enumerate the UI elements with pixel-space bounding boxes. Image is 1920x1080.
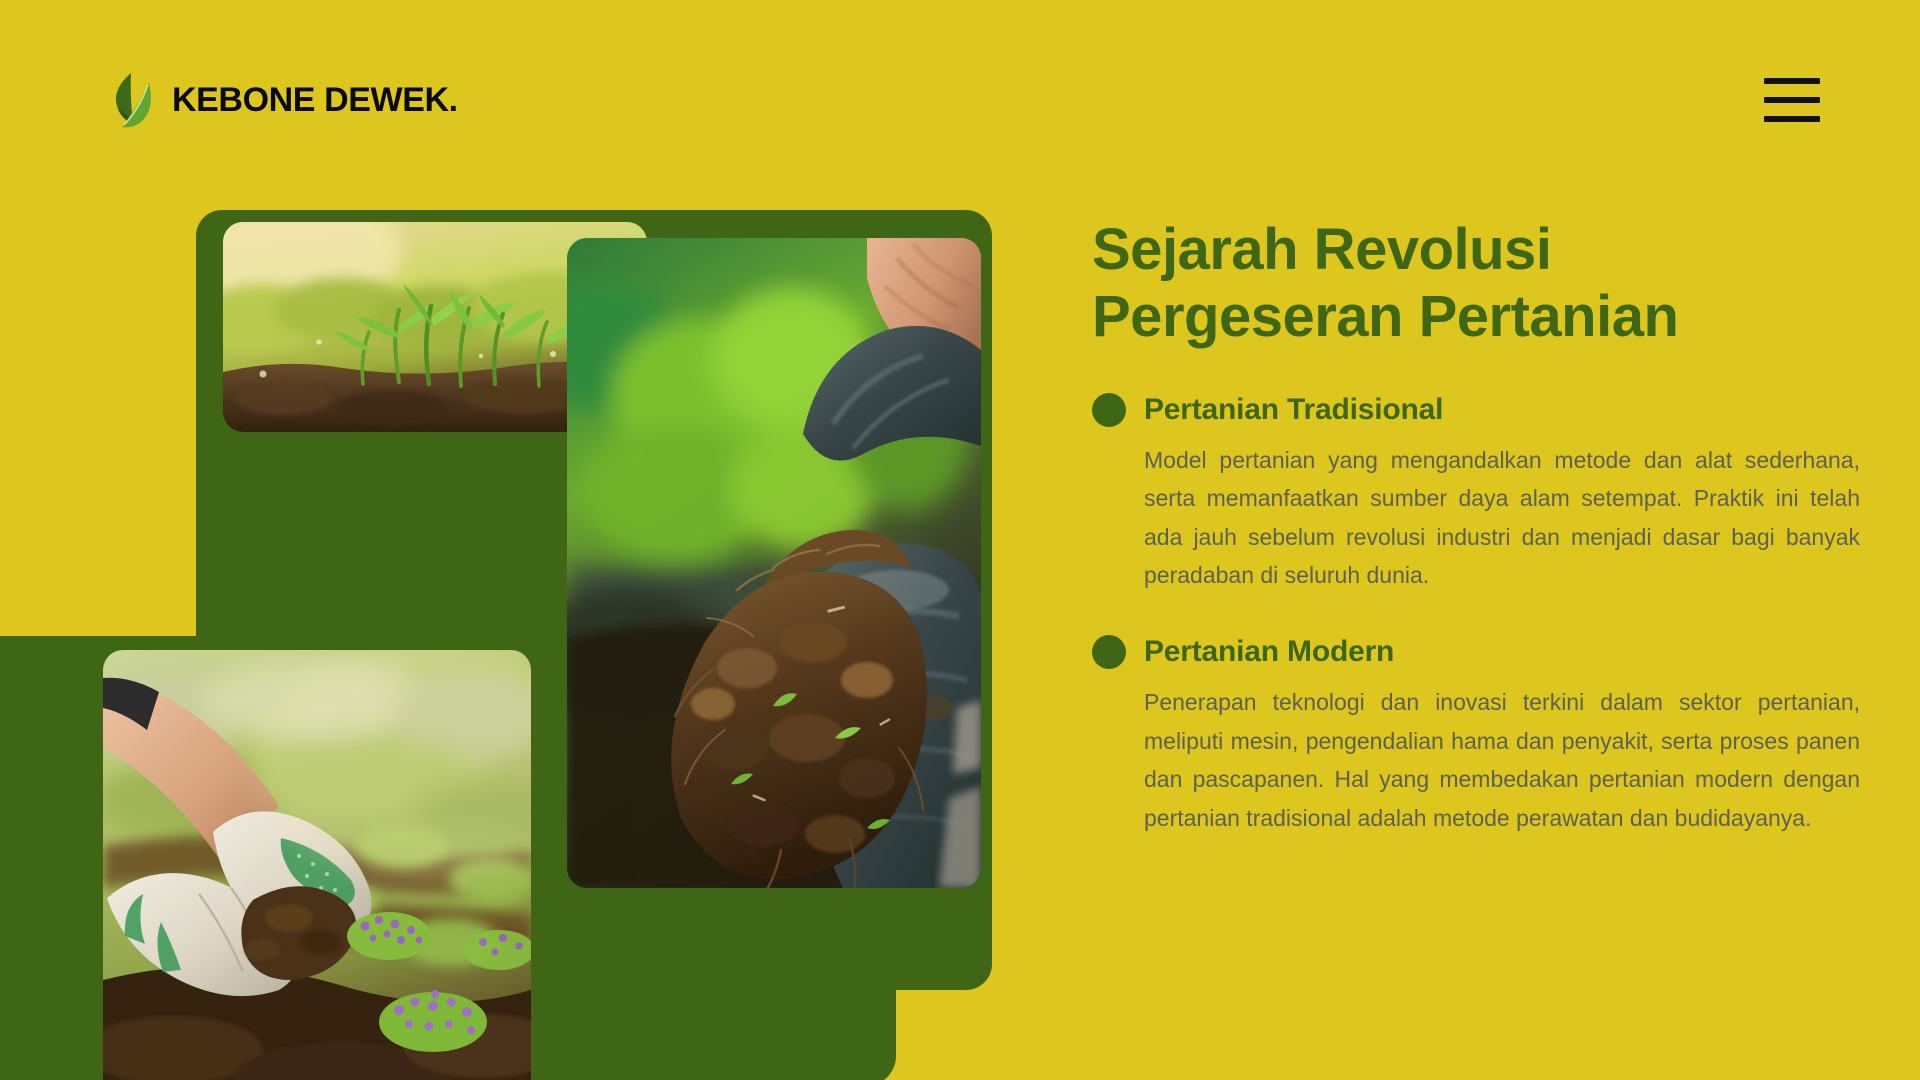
hamburger-line-3 <box>1764 116 1820 122</box>
section-header: Pertanian Modern <box>1092 635 1860 669</box>
section-body: Penerapan teknologi dan inovasi terkini … <box>1144 683 1860 838</box>
leaf-icon <box>108 71 154 129</box>
section-header: Pertanian Tradisional <box>1092 393 1860 427</box>
brand-name: KEBONE DEWEK. <box>172 81 458 120</box>
collage-image-hands-planting-rows[interactable] <box>103 650 531 1080</box>
section-title: Pertanian Tradisional <box>1144 393 1443 427</box>
collage-image-hands-holding-soil[interactable] <box>567 238 981 888</box>
bullet-dot-icon <box>1092 635 1126 669</box>
section-pertanian-tradisional: Pertanian Tradisional Model pertanian ya… <box>1092 393 1860 596</box>
brand-logo[interactable]: KEBONE DEWEK. <box>108 71 458 129</box>
page-title: Sejarah Revolusi Pergeseran Pertanian <box>1092 216 1860 351</box>
hamburger-menu-icon[interactable] <box>1764 78 1820 122</box>
section-body: Model pertanian yang mengandalkan metode… <box>1144 441 1860 596</box>
hamburger-line-2 <box>1764 97 1820 103</box>
section-title: Pertanian Modern <box>1144 635 1394 669</box>
page-header: KEBONE DEWEK. <box>0 0 1920 200</box>
bullet-dot-icon <box>1092 393 1126 427</box>
section-pertanian-modern: Pertanian Modern Penerapan teknologi dan… <box>1092 635 1860 838</box>
hamburger-line-1 <box>1764 78 1820 84</box>
content-column: Sejarah Revolusi Pergeseran Pertanian Pe… <box>1092 216 1860 878</box>
image-collage <box>0 196 1010 1080</box>
